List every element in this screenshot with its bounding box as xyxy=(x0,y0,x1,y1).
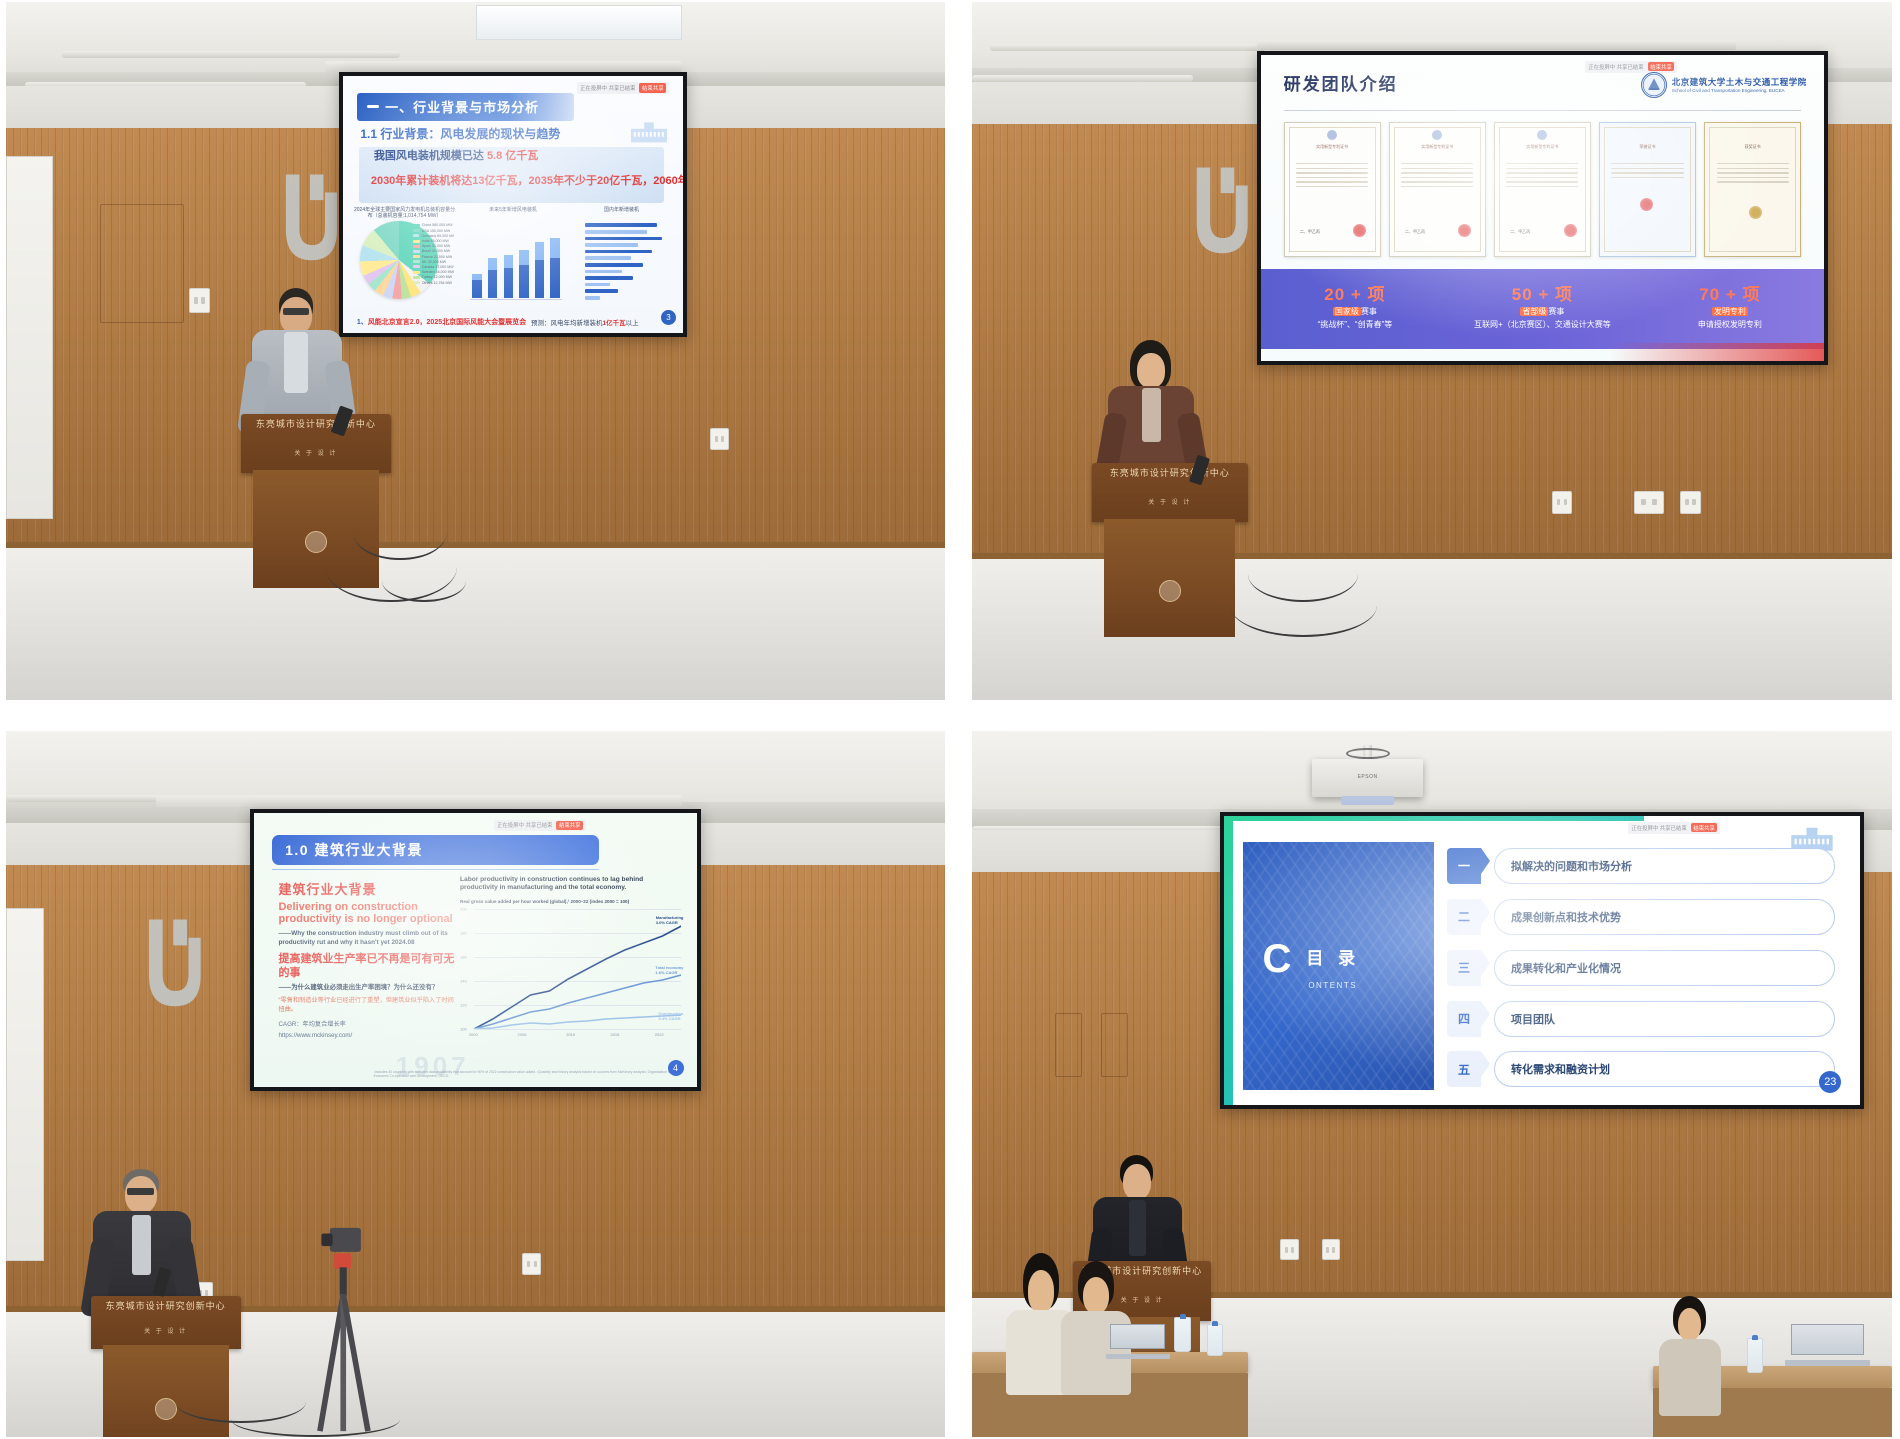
footnote-right-b: 1亿千瓦 xyxy=(603,320,626,327)
bar-chart-block: 未来5年新增风电装机 xyxy=(462,207,564,310)
stat-tag-highlight: 国家级 xyxy=(1333,307,1361,316)
contents-list: 一 拟解决的问题和市场分析 二 成果创新点和技术优势 三 成果转化和产业化情况 xyxy=(1447,848,1835,1087)
chart-heading: Labor productivity in construction conti… xyxy=(460,876,681,893)
stats-band: 20 + 项 国家级赛事 “挑战杯”、“创青春”等 50 + 项 省部级赛事 xyxy=(1261,269,1823,349)
certificate-title: 荣誉证书 xyxy=(1600,144,1695,150)
watermark-badge: 结束共享 xyxy=(556,821,583,830)
paragraph-cn: ——为什么建筑业必须走出生产率困境？为什么还没有？ xyxy=(278,984,455,992)
panel-bottom-right: EPSON 正在投屏中 共享已结束 结束共享 xyxy=(972,731,1892,1437)
chart-footnote: ¹Includes 40 countries with sufficient d… xyxy=(374,1070,679,1079)
contents-item-number: 四 xyxy=(1447,1001,1481,1037)
slide-left-column: 建筑行业大背景 Delivering on construction produ… xyxy=(278,879,455,1039)
footnote-right-a: 预测：风电年均新增装机 xyxy=(531,320,603,327)
footnote-right-c: 以上 xyxy=(626,320,639,327)
podium-sublabel: 关 于 设 计 xyxy=(241,448,391,457)
slide-page-number: 3 xyxy=(661,310,676,325)
building-illustration-icon xyxy=(1789,825,1835,851)
projection-screen: 正在投屏中 共享已结束 结束共享 1.0 建筑行业大背景 建筑行业大背景 Del… xyxy=(250,809,701,1091)
slide-construction-background: 正在投屏中 共享已结束 结束共享 1.0 建筑行业大背景 建筑行业大背景 Del… xyxy=(254,813,697,1087)
slide-highlight-box: 我国风电装机规模已达 5.8 亿千瓦 2030年累计装机将达13亿千瓦，2035… xyxy=(359,147,664,204)
wall-panel-notch xyxy=(1101,1013,1129,1077)
contents-item-4[interactable]: 四 项目团队 xyxy=(1447,1001,1835,1037)
decorative-green-top xyxy=(1224,816,1644,821)
podium-label: 东亮城市设计研究创新中心 xyxy=(97,1299,235,1312)
stat-tag: 国家级赛事 xyxy=(1261,306,1448,317)
watermark-text: 正在投屏中 共享已结束 xyxy=(580,84,635,92)
quote-cn: “零售和制造业等行业已经进行了重塑，但建筑业似乎陷入了时间扭曲。 xyxy=(278,997,455,1014)
skirting-board xyxy=(6,542,945,548)
water-bottle xyxy=(1207,1324,1224,1356)
certificate-title: 实用新型专利证书 xyxy=(1285,144,1380,150)
slide-table-of-contents: 正在投屏中 共享已结束 结束共享 C 目 录 ONTENTS xyxy=(1224,816,1860,1105)
lecture-room: 正在投屏中 共享已结束 结束共享 1.0 建筑行业大背景 建筑行业大背景 Del… xyxy=(6,731,945,1437)
certificate-item: 实用新型专利证书 二、甲乙丙 xyxy=(1494,122,1591,257)
contents-item-label: 成果创新点和技术优势 xyxy=(1494,899,1835,935)
stat-description: 互联网+（北京赛区）、交通设计大赛等 xyxy=(1449,319,1636,330)
wall-outlet xyxy=(1552,491,1572,515)
podium-emblem xyxy=(305,531,327,553)
pie-chart-caption: 2024年全球主要国家风力发电机总装机容量分布（总装机容量:1,014,754 … xyxy=(354,207,456,220)
ceiling-conduit xyxy=(62,51,400,58)
hbar-chart-block: 国内年新增装机 xyxy=(570,207,672,310)
series-label-manufacturing: Manufacturing3.0% CAGR xyxy=(656,916,684,926)
eyeglasses-icon xyxy=(283,308,309,315)
water-bottle xyxy=(1174,1317,1191,1352)
contents-title-cn: 目 录 xyxy=(1306,944,1360,969)
screencast-watermark: 正在投屏中 共享已结束 结束共享 xyxy=(577,82,669,94)
bar-chart xyxy=(472,234,560,298)
floor-cable xyxy=(1230,574,1377,637)
slide-page-number: 4 xyxy=(668,1060,684,1076)
screen-surface: 正在投屏中 共享已结束 结束共享 1.0 建筑行业大背景 建筑行业大背景 Del… xyxy=(254,813,697,1087)
laptop[interactable] xyxy=(1110,1324,1165,1359)
heading-cn: 建筑行业大背景 xyxy=(278,879,455,898)
title-divider xyxy=(1284,110,1801,111)
stat-tag-highlight: 省部级 xyxy=(1520,307,1548,316)
watermark-badge: 结束共享 xyxy=(1691,823,1718,832)
podium-top: 东亮城市设计研究创新中心 关 于 设 计 xyxy=(91,1296,241,1349)
chart-subheading: Real gross value added per hour worked (… xyxy=(460,899,681,904)
stat-tag: 发明专利 xyxy=(1636,306,1823,317)
highlight-line-2: 2030年累计装机将达13亿千瓦，2035年不少于20亿千瓦，2060年突破50… xyxy=(371,172,683,188)
source-url: https://www.mckinsey.com/ xyxy=(278,1032,455,1039)
slide-footnote-right: 预测：风电年均新增装机1亿千瓦以上 xyxy=(531,317,639,327)
stat-tag-highlight: 发明专利 xyxy=(1712,307,1748,316)
stat-number: 50 + 项 xyxy=(1449,280,1636,305)
podium-top: 东亮城市设计研究创新中心 关 于 设 计 xyxy=(241,414,391,473)
title-dash-icon xyxy=(367,105,379,108)
slide-title-bar: 一、行业背景与市场分析 xyxy=(357,93,574,121)
contents-item-5[interactable]: 五 转化需求和融资计划 xyxy=(1447,1051,1835,1087)
screen-surface: 一、行业背景与市场分析 正在投屏中 共享已结束 结束共享 1.1 行业背景：风电… xyxy=(343,76,682,333)
line-chart-series xyxy=(474,909,681,1029)
pie-chart-block: 2024年全球主要国家风力发电机总装机容量分布（总装机容量:1,014,754 … xyxy=(354,207,456,310)
certificate-title: 实用新型专利证书 xyxy=(1495,144,1590,150)
contents-item-number: 二 xyxy=(1447,899,1481,935)
side-door xyxy=(6,156,53,519)
floor-cable xyxy=(382,560,467,602)
slide-footnote: 1、风能北京宣言2.0，2025北京国际风能大会暨展览会 xyxy=(357,317,526,327)
slide-title-bar: 1.0 建筑行业大背景 xyxy=(272,835,600,865)
wall-outlet xyxy=(1280,1239,1298,1260)
side-door xyxy=(6,908,44,1261)
stat-tag: 省部级赛事 xyxy=(1449,306,1636,317)
projector-cables xyxy=(1346,748,1390,759)
contents-item-number: 五 xyxy=(1447,1051,1481,1087)
screen-case xyxy=(325,61,682,72)
certificate-item: 实用新型专利证书 二、甲乙丙 xyxy=(1389,122,1486,257)
stat-tag-rest: 赛事 xyxy=(1548,307,1564,316)
decorative-swoosh xyxy=(1610,343,1824,361)
watermark-text: 正在投屏中 共享已结束 xyxy=(1588,63,1643,71)
laptop[interactable] xyxy=(1791,1324,1865,1366)
watermark-text: 正在投屏中 共享已结束 xyxy=(497,821,552,829)
university-logo: 北京建筑大学土木与交通工程学院 School of Civil and Tran… xyxy=(1641,72,1807,98)
heading-en: Delivering on construction productivity … xyxy=(278,901,455,927)
stat-description: 申请授权发明专利 xyxy=(1636,319,1823,330)
podium-label: 东亮城市设计研究创新中心 xyxy=(247,417,385,430)
podium-sublabel: 关 于 设 计 xyxy=(1092,497,1248,506)
lecture-room: 正在投屏中 共享已结束 结束共享 研发团队介绍 xyxy=(972,2,1892,700)
contents-item-number: 三 xyxy=(1447,950,1481,986)
slide-charts-row: 2024年全球主要国家风力发电机总装机容量分布（总装机容量:1,014,754 … xyxy=(354,207,673,310)
ceiling-conduit xyxy=(990,44,1266,51)
stat-description: “挑战杯”、“创青春”等 xyxy=(1261,319,1448,330)
wall-panel-notch xyxy=(1055,1013,1083,1077)
university-name-en: School of Civil and Transportation Engin… xyxy=(1672,88,1807,93)
projector-lens xyxy=(1341,796,1394,805)
panel-top-right: 正在投屏中 共享已结束 结束共享 研发团队介绍 xyxy=(972,2,1892,700)
certificate-item: 荣誉证书 xyxy=(1599,122,1696,257)
title-underline xyxy=(272,869,600,871)
ceiling-conduit xyxy=(972,75,1193,82)
bar-chart-axis xyxy=(470,299,562,300)
floor-cable xyxy=(231,1402,400,1437)
slide-title: 一、行业背景与市场分析 xyxy=(385,97,539,116)
contents-item-number: 一 xyxy=(1447,848,1481,884)
certificate-item: 实用新型专利证书 二、甲乙丙 xyxy=(1284,122,1381,257)
stat-number: 20 + 项 xyxy=(1261,280,1448,305)
panel-bottom-left: 正在投屏中 共享已结束 结束共享 1.0 建筑行业大背景 建筑行业大背景 Del… xyxy=(6,731,945,1437)
certificate-item: 获奖证书 xyxy=(1704,122,1801,257)
slide-industry-background: 一、行业背景与市场分析 正在投屏中 共享已结束 结束共享 1.1 行业背景：风电… xyxy=(343,76,682,333)
contents-hero-panel: C 目 录 ONTENTS xyxy=(1243,842,1434,1090)
pie-legend: China 580,000 MW USA 150,000 MW Germany … xyxy=(413,223,454,285)
projection-screen: 一、行业背景与市场分析 正在投屏中 共享已结束 结束共享 1.1 行业背景：风电… xyxy=(339,72,686,337)
slide-page-number: 23 xyxy=(1819,1071,1841,1093)
wall-outlet xyxy=(522,1253,541,1274)
eyeglasses-icon xyxy=(127,1188,154,1195)
certificate-gallery: 实用新型专利证书 二、甲乙丙 实用新型专利证书 二、甲乙丙 xyxy=(1284,122,1801,257)
projector-brand-label: EPSON xyxy=(1358,774,1378,780)
photo-collage: 一、行业背景与市场分析 正在投屏中 共享已结束 结束共享 1.1 行业背景：风电… xyxy=(0,0,1900,1439)
stat-item: 70 + 项 发明专利 申请授权发明专利 xyxy=(1636,269,1823,349)
podium-emblem xyxy=(155,1398,177,1420)
wall-outlet xyxy=(1634,491,1663,515)
contents-letter: C xyxy=(1263,941,1292,977)
paragraph-en: ——Why the construction industry must cli… xyxy=(278,930,455,947)
stat-item: 50 + 项 省部级赛事 互联网+（北京赛区）、交通设计大赛等 xyxy=(1449,269,1636,349)
screen-case xyxy=(156,795,682,808)
lecture-room: 一、行业背景与市场分析 正在投屏中 共享已结束 结束共享 1.1 行业背景：风电… xyxy=(6,2,945,700)
podium-top: 东亮城市设计研究创新中心 关 于 设 计 xyxy=(1092,463,1248,522)
wall-outlet xyxy=(1322,1239,1340,1260)
certificate-title: 获奖证书 xyxy=(1705,144,1800,150)
highlight-1b: 5.8 亿千瓦 xyxy=(487,150,538,162)
contents-item-label: 拟解决的问题和市场分析 xyxy=(1494,848,1835,884)
contents-item-label: 转化需求和融资计划 xyxy=(1494,1051,1835,1087)
footnote-text: 风能北京宣言2.0，2025北京国际风能大会暨展览会 xyxy=(368,319,526,326)
contents-item-2[interactable]: 二 成果创新点和技术优势 xyxy=(1447,899,1835,935)
contents-item-1[interactable]: 一 拟解决的问题和市场分析 xyxy=(1447,848,1835,884)
series-label-total-economy: Total economy1.6% CAGR xyxy=(655,966,683,976)
podium-emblem xyxy=(1159,580,1181,602)
podium-body xyxy=(1104,519,1235,638)
certificate-title: 实用新型专利证书 xyxy=(1390,144,1485,150)
university-name-cn: 北京建筑大学土木与交通工程学院 xyxy=(1672,76,1807,88)
slide-team-intro: 正在投屏中 共享已结束 结束共享 研发团队介绍 xyxy=(1261,55,1823,361)
bar-chart-caption: 未来5年新增风电装机 xyxy=(462,207,564,213)
water-bottle xyxy=(1747,1338,1764,1373)
stat-item: 20 + 项 国家级赛事 “挑战杯”、“创青春”等 xyxy=(1261,269,1448,349)
screen-case xyxy=(1257,40,1735,50)
slide-right-column: Labor productivity in construction conti… xyxy=(460,876,681,1029)
screencast-watermark: 正在投屏中 共享已结束 结束共享 xyxy=(1628,822,1720,834)
lecture-room: EPSON 正在投屏中 共享已结束 结束共享 xyxy=(972,731,1892,1437)
projector-body: EPSON xyxy=(1312,759,1422,797)
screen-surface: 正在投屏中 共享已结束 结束共享 研发团队介绍 xyxy=(1261,55,1823,361)
podium: 东亮城市设计研究创新中心 关 于 设 计 xyxy=(1092,463,1248,638)
series-label-construction: Construction0.4% CAGR xyxy=(658,1012,683,1022)
bucea-u-logo xyxy=(1174,163,1261,261)
panel-top-left: 一、行业背景与市场分析 正在投屏中 共享已结束 结束共享 1.1 行业背景：风电… xyxy=(6,2,945,700)
watermark-badge: 结束共享 xyxy=(1648,62,1675,71)
projection-screen: 正在投屏中 共享已结束 结束共享 C 目 录 ONTENTS xyxy=(1220,812,1864,1109)
wall-outlet xyxy=(710,428,729,450)
contents-item-3[interactable]: 三 成果转化和产业化情况 xyxy=(1447,950,1835,986)
university-crest-icon xyxy=(1641,72,1667,98)
wall-outlet xyxy=(189,288,210,313)
hbar-chart xyxy=(585,223,669,299)
podium-sublabel: 关 于 设 计 xyxy=(91,1326,241,1335)
floor xyxy=(6,546,945,700)
podium-label: 东亮城市设计研究创新中心 xyxy=(1098,466,1242,479)
highlight-1a: 我国风电装机规模已达 xyxy=(374,150,487,162)
stat-tag-rest: 赛事 xyxy=(1361,307,1377,316)
wall-panel-notch xyxy=(100,204,185,323)
heading-cn-2: 提高建筑业生产率已不再是可有可无的事 xyxy=(278,953,455,979)
screen-surface: 正在投屏中 共享已结束 结束共享 C 目 录 ONTENTS xyxy=(1224,816,1860,1105)
slide-title: 1.0 建筑行业大背景 xyxy=(285,840,423,860)
note-cn: CAGR：年均复合增长率 xyxy=(278,1019,455,1028)
wall-outlet xyxy=(1680,491,1700,515)
audience-member-3 xyxy=(1653,1296,1727,1416)
stat-number: 70 + 项 xyxy=(1636,280,1823,305)
contents-title-en: ONTENTS xyxy=(1308,981,1357,990)
decorative-green-bar xyxy=(1224,816,1233,1105)
slide-title: 研发团队介绍 xyxy=(1284,70,1398,95)
watermark-badge: 结束共享 xyxy=(639,83,666,92)
ceiling-projector: EPSON xyxy=(1312,745,1422,809)
ceiling-light xyxy=(476,5,683,40)
screencast-watermark: 正在投屏中 共享已结束 结束共享 xyxy=(494,820,586,832)
highlight-line-1: 我国风电装机规模已达 5.8 亿千瓦 xyxy=(374,147,538,163)
projection-screen: 正在投屏中 共享已结束 结束共享 研发团队介绍 xyxy=(1257,51,1827,365)
contents-item-label: 成果转化和产业化情况 xyxy=(1494,950,1835,986)
line-chart: 200 180 160 140 120 100 xyxy=(460,909,681,1029)
watermark-text: 正在投屏中 共享已结束 xyxy=(1631,824,1686,832)
slide-subtitle: 1.1 行业背景：风电发展的现状与趋势 xyxy=(360,125,560,142)
bucea-u-logo xyxy=(128,915,213,1014)
building-illustration-icon xyxy=(629,120,669,146)
contents-item-label: 项目团队 xyxy=(1494,1001,1835,1037)
hbar-chart-caption: 国内年新增装机 xyxy=(570,207,672,213)
